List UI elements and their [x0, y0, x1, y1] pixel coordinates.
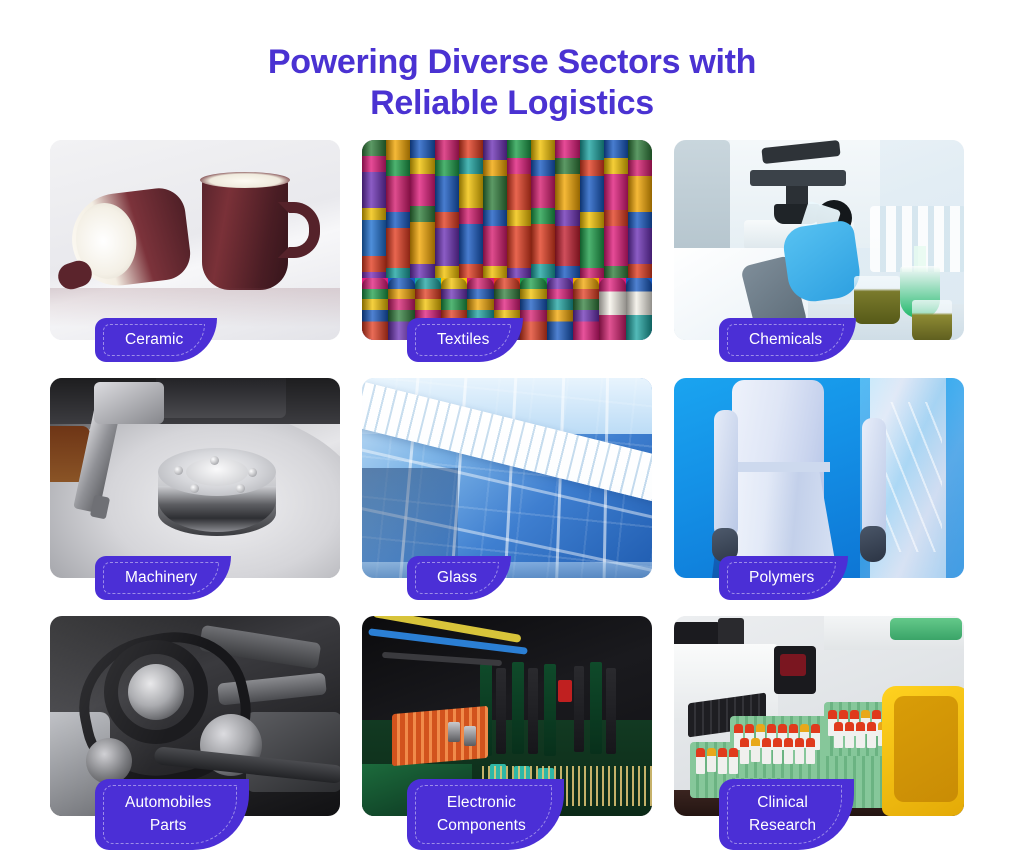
sector-badge-polymers[interactable]: Polymers — [719, 556, 848, 600]
sector-card-grid: Ceramic — [50, 140, 974, 816]
glass-photo — [362, 378, 652, 578]
sector-card-clinical-research[interactable]: Clinical Research — [674, 616, 964, 816]
laboratory-illustration — [674, 140, 964, 340]
sector-card-automobiles-parts[interactable]: Automobiles Parts — [50, 616, 340, 816]
sector-card-chemicals[interactable]: Chemicals — [674, 140, 964, 340]
chemicals-photo — [674, 140, 964, 340]
sector-label-ceramic: Ceramic — [125, 329, 183, 351]
sector-badge-electronic-components[interactable]: Electronic Components — [407, 779, 564, 850]
polymers-photo — [674, 378, 964, 578]
page-title-line-1: Powering Diverse Sectors with — [268, 43, 756, 81]
sector-label-textiles: Textiles — [437, 329, 489, 351]
sector-badge-textiles[interactable]: Textiles — [407, 318, 523, 362]
sector-label-glass: Glass — [437, 567, 477, 589]
sector-badge-chemicals[interactable]: Chemicals — [719, 318, 856, 362]
sector-card-textiles[interactable]: Textiles — [362, 140, 652, 340]
sector-label-automobiles-parts: Automobiles Parts — [125, 792, 211, 837]
ceramic-mugs-illustration — [50, 140, 340, 340]
polymer-garments-illustration — [674, 378, 964, 578]
page-title-line-2: Reliable Logistics — [0, 83, 1024, 124]
sector-card-machinery[interactable]: Machinery — [50, 378, 340, 578]
sector-label-electronic-components: Electronic Components — [437, 792, 526, 837]
sector-badge-glass[interactable]: Glass — [407, 556, 511, 600]
glass-facade-illustration — [362, 378, 652, 578]
sector-label-chemicals: Chemicals — [749, 329, 822, 351]
sector-badge-clinical-research[interactable]: Clinical Research — [719, 779, 854, 850]
sector-card-electronic-components[interactable]: Electronic Components — [362, 616, 652, 816]
machinery-photo — [50, 378, 340, 578]
sector-label-clinical-research: Clinical Research — [749, 792, 816, 837]
sector-badge-machinery[interactable]: Machinery — [95, 556, 231, 600]
sector-card-ceramic[interactable]: Ceramic — [50, 140, 340, 340]
hard-drive-illustration — [50, 378, 340, 578]
sector-card-polymers[interactable]: Polymers — [674, 378, 964, 578]
textiles-photo — [362, 140, 652, 340]
ceramic-photo — [50, 140, 340, 340]
page-title: Powering Diverse Sectors with Reliable L… — [0, 0, 1024, 125]
sectors-infographic: Powering Diverse Sectors with Reliable L… — [0, 0, 1024, 856]
sector-card-glass[interactable]: Glass — [362, 378, 652, 578]
sector-badge-ceramic[interactable]: Ceramic — [95, 318, 217, 362]
sector-label-polymers: Polymers — [749, 567, 814, 589]
sector-label-machinery: Machinery — [125, 567, 197, 589]
textile-rolls-illustration — [362, 140, 652, 340]
sector-badge-automobiles-parts[interactable]: Automobiles Parts — [95, 779, 249, 850]
